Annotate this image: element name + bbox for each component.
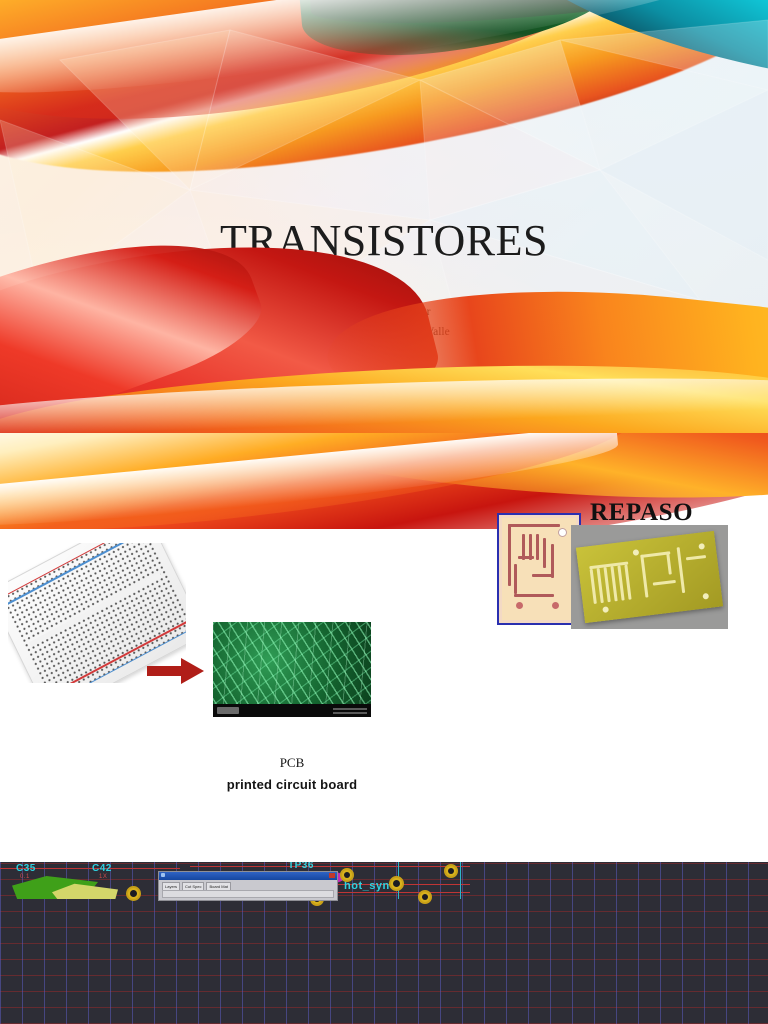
pcb-green-image — [213, 622, 371, 717]
eda-label-c35: C35 — [16, 863, 36, 874]
eda-label-c42: C42 — [92, 863, 112, 874]
arrow-breadboard-to-pcb — [147, 656, 205, 686]
caption-pcb-full-name: printed circuit board — [150, 777, 434, 792]
etched-board-image — [571, 525, 728, 629]
dialog-titlebar[interactable] — [159, 872, 337, 880]
eda-label-small-2: 1X — [99, 874, 107, 880]
pcb-design-software-screenshot: C35 C42 TP36 hot_sync 0.1 1X Layers Cut … — [0, 862, 470, 899]
eda-dialog-window[interactable]: Layers Cut Spec Board Mat — [158, 871, 338, 899]
dialog-body — [162, 890, 334, 898]
dialog-icon — [161, 873, 165, 877]
caption-pcb-abbreviation: PCB — [213, 755, 371, 771]
slide-2-repaso-pcb: REPASO PCB printed circuit board — [0, 433, 768, 862]
slide-3-repaso-eda: REPASO C35 C42 TP36 hot_sync 0.1 1X — [0, 862, 768, 1024]
slides-page: TRANSISTORES Jesus Caratar Universidad d… — [0, 0, 768, 1024]
eda-label-tp36: TP36 — [288, 862, 314, 871]
close-icon[interactable] — [329, 873, 335, 878]
slide-1-title: TRANSISTORES Jesus Caratar Universidad d… — [0, 0, 768, 433]
pcb-artwork-image — [497, 513, 581, 625]
eda-label-small-1: 0.1 — [20, 874, 30, 880]
slide-2-heading: REPASO — [590, 499, 693, 527]
